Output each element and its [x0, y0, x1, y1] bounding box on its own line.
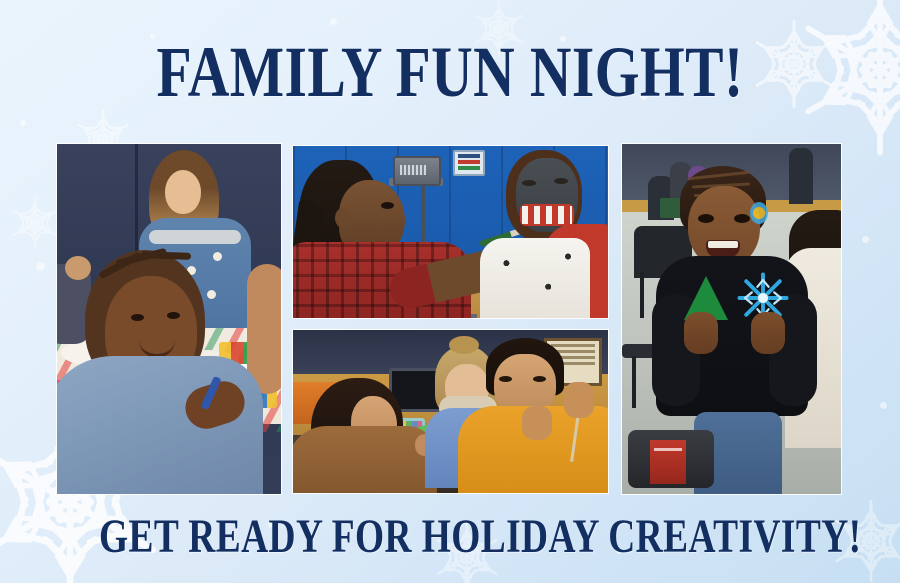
photo-craft-making-table	[293, 330, 608, 493]
girl-eye	[734, 214, 750, 223]
boy-eye	[554, 178, 568, 184]
sweater-dot	[207, 290, 216, 299]
woman-brown-coat	[293, 426, 437, 493]
girl-teeth	[708, 241, 738, 248]
sweater-trim	[149, 230, 241, 244]
photo-d-scene	[622, 144, 841, 494]
man-eye	[533, 376, 546, 382]
photo-girl-at-craft-table	[57, 144, 281, 494]
snow-dot	[862, 236, 869, 243]
man-ear	[335, 208, 351, 228]
boy-eye	[522, 180, 536, 186]
page-title: FAMILY FUN NIGHT!	[90, 36, 810, 108]
photo-face-painting	[293, 146, 608, 318]
painted-teeth	[522, 206, 572, 224]
girl-blue-tshirt	[57, 356, 263, 494]
red-card	[650, 440, 686, 484]
sweater-dot	[213, 252, 222, 261]
photo-a-scene	[57, 144, 281, 494]
hair-bun	[449, 336, 479, 354]
radio-speaker	[393, 156, 441, 186]
photo-c-scene	[293, 330, 608, 493]
snow-dot	[330, 18, 337, 25]
woman-face	[165, 170, 201, 214]
photo-girl-with-ornaments	[622, 144, 841, 494]
girl-eye	[131, 314, 144, 321]
man-eye	[381, 202, 394, 209]
boy-white-coat	[480, 238, 590, 318]
man-eye	[499, 376, 512, 382]
wall-sign	[453, 150, 485, 176]
snow-dot	[880, 402, 887, 409]
snow-dot	[20, 120, 26, 126]
man-hand	[564, 382, 594, 418]
girl-eye	[698, 214, 714, 223]
photo-b-scene	[293, 146, 608, 318]
snowflake-mid-left-icon	[8, 196, 62, 250]
background-person	[789, 148, 813, 204]
face-sticker	[750, 202, 768, 224]
man-hand	[522, 406, 552, 440]
poster-canvas: FAMILY FUN NIGHT!	[0, 0, 900, 583]
girl-hand	[751, 312, 785, 354]
girl-eye	[167, 312, 180, 319]
girl-hand	[684, 312, 718, 354]
background-person-hand	[65, 256, 91, 280]
snow-dot	[36, 262, 45, 271]
page-subtitle: GET READY FOR HOLIDAY CREATIVITY!	[99, 513, 801, 561]
